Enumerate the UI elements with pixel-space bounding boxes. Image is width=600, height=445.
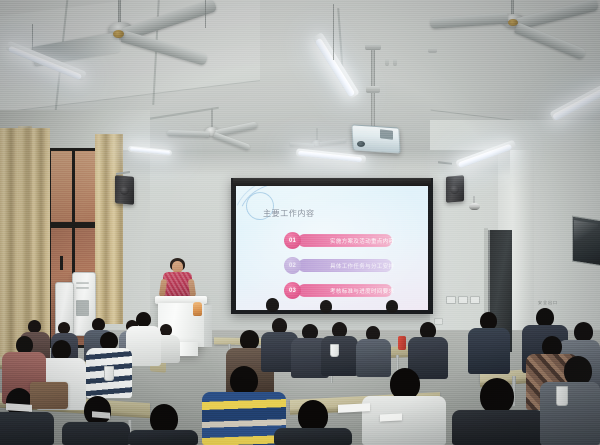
projector-pole-collar: [366, 86, 380, 93]
window-pane: [51, 151, 72, 223]
monitor-glare: [574, 220, 598, 244]
wall-outlet[interactable]: [458, 296, 468, 304]
audience-torso-front: [0, 412, 54, 445]
slide-badge: 02: [284, 257, 301, 274]
audience-head: [266, 298, 279, 312]
audience-torso-front: [540, 382, 600, 445]
slide-badge: 03: [284, 282, 301, 299]
speaker-cone: [120, 186, 129, 195]
classroom-photo: 安全出口: [0, 0, 600, 445]
slide-heading: 主要工作内容: [263, 208, 315, 219]
ceiling-hook: [385, 58, 389, 66]
light-hanger: [333, 4, 334, 60]
ac-vent: [76, 287, 89, 289]
audience-head: [52, 340, 71, 360]
ac-control-panel[interactable]: [76, 300, 89, 316]
audience-head: [320, 300, 332, 313]
window-pane: [75, 151, 97, 223]
projection-screen-case[interactable]: [233, 178, 431, 186]
audience-head-front: [230, 366, 258, 395]
projector-ceiling-mount: [365, 44, 381, 50]
wall-outlet[interactable]: [470, 296, 480, 304]
security-camera: [469, 203, 480, 210]
projection-screen: 主要工作内容 01 实施方案及活动重点内容 02 具体工作任务与分工安排 03 …: [236, 186, 428, 310]
podium-side: [204, 305, 212, 347]
audience-head: [240, 330, 259, 350]
window-handle[interactable]: [60, 256, 63, 270]
slide-row-text: 具体工作任务与分工安排: [330, 262, 394, 270]
audience-torso-front: [274, 428, 352, 445]
slide-row-02: 02 具体工作任务与分工安排: [284, 259, 392, 272]
exit-sign-text: 安全出口: [538, 300, 558, 306]
slide-badge: 01: [284, 232, 301, 249]
wall-outlet[interactable]: [434, 318, 443, 325]
folder-on-podium[interactable]: [193, 302, 202, 316]
projector-lens: [357, 141, 365, 147]
audience-head: [574, 322, 593, 342]
cup-on-desk[interactable]: [104, 366, 114, 381]
slide-row-03: 03 考核标准与进度时间要求: [284, 284, 392, 297]
light-hanger: [205, 0, 206, 28]
window-curtain-right[interactable]: [95, 134, 123, 324]
slide-row-text: 实施方案及活动重点内容: [330, 237, 394, 245]
projector-vent: [380, 129, 393, 140]
audience-head: [386, 300, 398, 313]
cup-on-desk[interactable]: [330, 344, 339, 357]
slide-row-01: 01 实施方案及活动重点内容: [284, 234, 392, 247]
audience-torso-front: [128, 430, 198, 445]
audience-head-front: [84, 396, 111, 425]
paper-on-desk[interactable]: [338, 403, 370, 413]
audience-torso-front: [452, 410, 544, 445]
ceiling-projector: [351, 124, 400, 154]
speaker-cone: [450, 185, 459, 194]
bag-on-desk[interactable]: [30, 382, 68, 409]
audience-torso-front: [62, 422, 130, 445]
ac-vent: [76, 282, 89, 284]
cup-on-desk[interactable]: [556, 386, 568, 406]
audience-torso: [468, 328, 510, 374]
window-mullion: [48, 222, 100, 226]
paper-on-desk[interactable]: [380, 413, 402, 421]
bottle-on-desk[interactable]: [398, 336, 406, 350]
audience-head-front: [480, 378, 514, 414]
audience-torso-front: [362, 396, 446, 445]
audience-torso: [321, 336, 358, 376]
slide-row-text: 考核标准与进度时间要求: [330, 287, 394, 295]
wall-outlet[interactable]: [446, 296, 456, 304]
audience-torso: [356, 339, 391, 377]
ceiling-hook: [393, 58, 397, 66]
ceiling-mount: [428, 48, 437, 53]
audience-head: [136, 312, 151, 327]
